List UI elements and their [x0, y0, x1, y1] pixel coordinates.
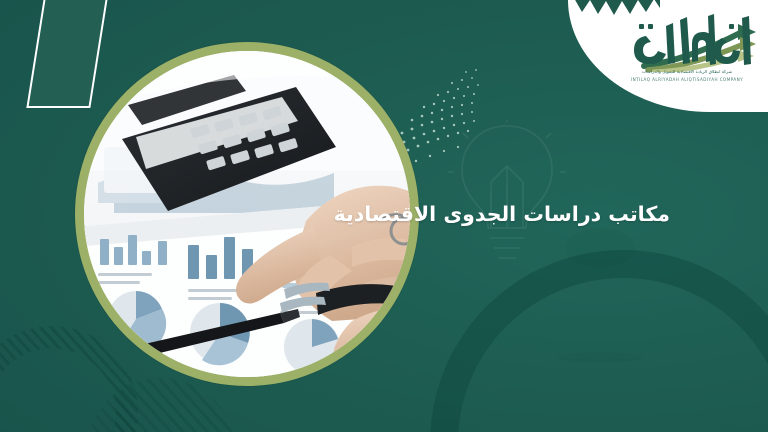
page-title: مكاتب دراسات الجدوى الاقتصادية [334, 202, 670, 226]
banner-canvas: شركة انطلاق الريادة الاقتصادية للتمويل و… [0, 0, 768, 432]
brand-name-english: INTILAQ ALRIYADAH ALIQTISADIYAH COMPANY [612, 77, 762, 83]
brand-logo [630, 10, 762, 72]
brand-name-arabic: شركة انطلاق الريادة الاقتصادية للتمويل و… [612, 70, 762, 76]
